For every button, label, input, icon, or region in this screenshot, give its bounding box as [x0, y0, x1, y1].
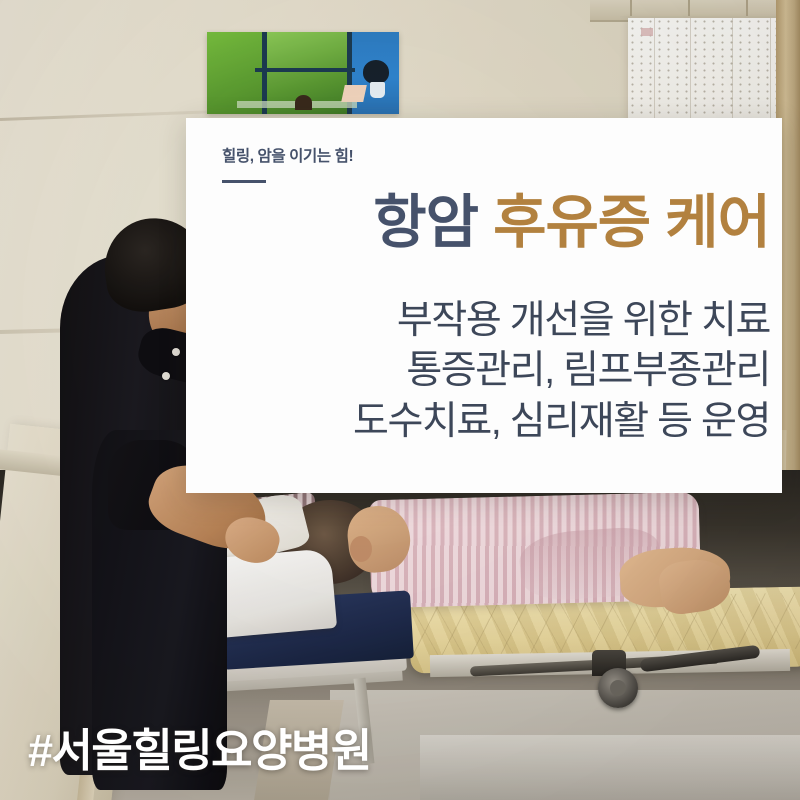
body-line-2: 통증관리, 림프부종관리 — [186, 346, 770, 396]
card-divider — [222, 180, 266, 183]
hashtag-label: #서울힐링요양병원 — [28, 714, 371, 779]
text-card: 힐링, 암을 이기는 힘! 항암 후유증 케어 부작용 개선을 위한 치료 통증… — [186, 118, 782, 493]
promotional-poster: 힐링, 암을 이기는 힘! 항암 후유증 케어 부작용 개선을 위한 치료 통증… — [0, 0, 800, 800]
card-headline: 항암 후유증 케어 — [186, 192, 770, 255]
body-line-1: 부작용 개선을 위한 치료 — [186, 296, 770, 346]
card-body-text: 부작용 개선을 위한 치료 통증관리, 림프부종관리 도수치료, 심리재활 등 … — [186, 296, 770, 447]
headline-navy-part: 항암 — [373, 190, 478, 255]
headline-gold-part: 후유증 케어 — [478, 190, 770, 255]
body-line-3: 도수치료, 심리재활 등 운영 — [186, 397, 770, 447]
card-eyebrow-text: 힐링, 암을 이기는 힘! — [222, 144, 353, 166]
